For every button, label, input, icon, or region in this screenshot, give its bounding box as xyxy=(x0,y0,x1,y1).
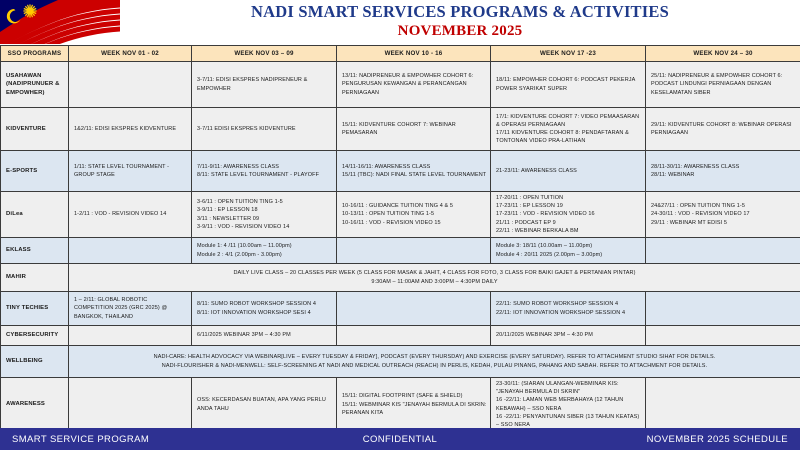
schedule-entry: DAILY LIVE CLASS – 20 CLASSES PER WEEK (… xyxy=(72,269,797,277)
program-name-cell[interactable]: AWARENESS xyxy=(1,378,69,432)
schedule-cell[interactable] xyxy=(337,326,491,346)
schedule-cell[interactable]: 25/11: NADIPRENEUR & EMPOWHER COHORT 6: … xyxy=(646,62,800,108)
schedule-cell[interactable]: 23-30/11: (SIARAN ULANGAN-WEBMINAR KIS: … xyxy=(491,378,646,432)
schedule-entry: 3-7/11: EDISI EKSPRES NADIPRENEUR & EMPO… xyxy=(197,76,333,92)
schedule-entry: 1/11: STATE LEVEL TOURNAMENT - GROUP STA… xyxy=(74,163,188,179)
table-header-row: SSO PROGRAMS WEEK NOV 01 - 02 WEEK NOV 0… xyxy=(1,46,800,62)
schedule-cell-merged[interactable]: NADI-CARE: HEALTH ADVOCACY VIA WEBINAR[L… xyxy=(69,346,800,378)
program-name-cell[interactable]: KIDVENTURE xyxy=(1,108,69,151)
table-row: MAHIRDAILY LIVE CLASS – 20 CLASSES PER W… xyxy=(1,264,800,292)
schedule-entry: 24-30/11 : VOD - REVISION VIDEO 17 xyxy=(651,210,797,218)
schedule-entry: 6/11/2025 WEBINAR 3PM – 4:30 PM xyxy=(197,331,333,339)
table-body: USAHAWAN (NADIPRUNUER & EMPOWHER)3-7/11:… xyxy=(1,62,800,450)
schedule-cell[interactable]: 8/11: SUMO ROBOT WORKSHOP SESSION 48/11:… xyxy=(192,292,337,326)
schedule-entry: Module 4 : 20/11 2025 (2.00pm – 3.00pm) xyxy=(496,251,642,259)
program-name-cell[interactable]: E-SPORTS xyxy=(1,151,69,192)
schedule-entry: 28/11: WEBINAR xyxy=(651,171,797,179)
schedule-entry: 3-7/11 EDISI EKSPRES KIDVENTURE xyxy=(197,125,333,133)
schedule-entry: 23-30/11: (SIARAN ULANGAN-WEBMINAR KIS: … xyxy=(496,380,642,396)
schedule-entry: Module 2 : 4/1 (2.00pm - 3.00pm) xyxy=(197,251,333,259)
schedule-entry: 25/11: NADIPRENEUR & EMPOWHER COHORT 6: … xyxy=(651,72,797,97)
schedule-cell[interactable]: 20/11/2025 WEBINAR 3PM – 4:30 PM xyxy=(491,326,646,346)
schedule-cell[interactable]: 10-16/11 : GUIDANCE TUITION TING 4 & 510… xyxy=(337,192,491,238)
schedule-cell[interactable]: 17/1: KIDVENTURE COHORT 7: VIDEO PEMAASA… xyxy=(491,108,646,151)
schedule-cell[interactable]: 29/11: KIDVENTURE COHORT 8: WEBINAR OPER… xyxy=(646,108,800,151)
schedule-cell[interactable] xyxy=(69,62,192,108)
page-header: NADI SMART SERVICES PROGRAMS & ACTIVITIE… xyxy=(0,0,800,45)
table-row: EKLASSModule 1: 4 /11 (10.00am – 11.00pm… xyxy=(1,238,800,264)
schedule-entry: Module 1: 4 /11 (10.00am – 11.00pm) xyxy=(197,242,333,250)
schedule-cell-merged[interactable]: DAILY LIVE CLASS – 20 CLASSES PER WEEK (… xyxy=(69,264,800,292)
column-header-week-1: WEEK NOV 01 - 02 xyxy=(69,46,192,62)
schedule-entry: 17-20/11 : OPEN TUITION xyxy=(496,194,642,202)
schedule-cell[interactable]: 1&2/11: EDISI EKSPRES KIDVENTURE xyxy=(69,108,192,151)
footer-center-label: CONFIDENTIAL xyxy=(270,434,530,445)
schedule-entry: 22/11 : WEBINAR BERKALA BM xyxy=(496,227,642,235)
program-name-cell[interactable]: WELLBEING xyxy=(1,346,69,378)
schedule-entry: 3-9/11 : VOD - REVISION VIDEO 14 xyxy=(197,223,333,231)
schedule-entry: NADI-FLOURISHER & NADI-MENWELL: SELF-SCR… xyxy=(72,362,797,370)
schedule-entry: 28/11-30/11: AWARENESS CLASS xyxy=(651,163,797,171)
table-row: DiLea1-2/11 : VOD - REVISION VIDEO 143-6… xyxy=(1,192,800,238)
schedule-entry: 24&27/11 : OPEN TUITION TING 1-5 xyxy=(651,202,797,210)
schedule-cell[interactable]: Module 1: 4 /11 (10.00am – 11.00pm)Modul… xyxy=(192,238,337,264)
schedule-entry: 15/11: WEBMINAR KIS "JENAYAH BERMULA DI … xyxy=(342,401,487,417)
page-title-block: NADI SMART SERVICES PROGRAMS & ACTIVITIE… xyxy=(120,2,800,41)
schedule-entry: 22/11: SUMO ROBOT WORKSHOP SESSION 4 xyxy=(496,300,642,308)
schedule-cell[interactable]: 1 – 2/11: GLOBAL ROBOTIC COMPETITION 202… xyxy=(69,292,192,326)
schedule-cell[interactable]: 6/11/2025 WEBINAR 3PM – 4:30 PM xyxy=(192,326,337,346)
column-header-week-5: WEEK NOV 24 – 30 xyxy=(646,46,800,62)
schedule-entry: 3/11 : NEWSLETTER 09 xyxy=(197,215,333,223)
schedule-entry: 17-23/11 : EP LESSON 19 xyxy=(496,202,642,210)
schedule-entry: 15/11: DIGITAL FOOTPRINT (SAFE & SHIELD) xyxy=(342,392,487,400)
schedule-cell[interactable] xyxy=(337,238,491,264)
schedule-cell[interactable]: 3-6/11 : OPEN TUITION TING 1-53-9/11 : E… xyxy=(192,192,337,238)
schedule-entry: 21/11 : PODCAST EP 9 xyxy=(496,219,642,227)
schedule-entry: 17/1: KIDVENTURE COHORT 7: VIDEO PEMAASA… xyxy=(496,113,642,129)
schedule-entry: 17-23/11 : VOD - REVISION VIDEO 16 xyxy=(496,210,642,218)
schedule-cell[interactable]: 17-20/11 : OPEN TUITION17-23/11 : EP LES… xyxy=(491,192,646,238)
schedule-cell[interactable] xyxy=(337,292,491,326)
table-row: KIDVENTURE1&2/11: EDISI EKSPRES KIDVENTU… xyxy=(1,108,800,151)
schedule-entry: 29/11: KIDVENTURE COHORT 8: WEBINAR OPER… xyxy=(651,121,797,137)
schedule-entry: 16 -22/11: PENYANTUNAN SIBER (13 TAHUN K… xyxy=(496,413,642,429)
schedule-entry: 20/11/2025 WEBINAR 3PM – 4:30 PM xyxy=(496,331,642,339)
schedule-entry: 8/11: SUMO ROBOT WORKSHOP SESSION 4 xyxy=(197,300,333,308)
schedule-cell[interactable]: 18/11: EMPOWHER COHORT 6: PODCAST PEKERJ… xyxy=(491,62,646,108)
table-row: CYBERSECURITY6/11/2025 WEBINAR 3PM – 4:3… xyxy=(1,326,800,346)
schedule-cell[interactable]: 13/11: NADIPRENEUR & EMPOWHER COHORT 6: … xyxy=(337,62,491,108)
table-row: TINY TECHIES1 – 2/11: GLOBAL ROBOTIC COM… xyxy=(1,292,800,326)
table-row: WELLBEINGNADI-CARE: HEALTH ADVOCACY VIA … xyxy=(1,346,800,378)
schedule-entry: OSS: KECERDASAN BUATAN, APA YANG PERLU A… xyxy=(197,396,333,412)
schedule-cell[interactable] xyxy=(646,378,800,432)
schedule-entry: 10-13/11 : OPEN TUITION TING 1-5 xyxy=(342,210,487,218)
program-name-cell[interactable]: TINY TECHIES xyxy=(1,292,69,326)
malaysia-flag-icon xyxy=(0,0,120,44)
schedule-cell[interactable]: 28/11-30/11: AWARENESS CLASS28/11: WEBIN… xyxy=(646,151,800,192)
schedule-entry: 7/11-9/11: AWARENESS CLASS xyxy=(197,163,333,171)
footer-left-label: SMART SERVICE PROGRAM xyxy=(0,434,270,445)
schedule-entry: 21-23/11: AWARENESS CLASS xyxy=(496,167,642,175)
schedule-cell[interactable]: 3-7/11 EDISI EKSPRES KIDVENTURE xyxy=(192,108,337,151)
column-header-week-2: WEEK NOV 03 – 09 xyxy=(192,46,337,62)
schedule-entry: 1-2/11 : VOD - REVISION VIDEO 14 xyxy=(74,210,188,218)
schedule-cell[interactable]: 7/11-9/11: AWARENESS CLASS8/11: STATE LE… xyxy=(192,151,337,192)
schedule-entry: 14/11-16/11: AWARENESS CLASS xyxy=(342,163,487,171)
footer-right-label: NOVEMBER 2025 SCHEDULE xyxy=(530,434,800,445)
schedule-entry: 22/11: IOT INNOVATION WORKSHOP SESSION 4 xyxy=(496,309,642,317)
schedule-entry: 15/11: KIDVENTURE COHORT 7: WEBINAR PEMA… xyxy=(342,121,487,137)
schedule-entry: 1&2/11: EDISI EKSPRES KIDVENTURE xyxy=(74,125,188,133)
schedule-cell[interactable]: 22/11: SUMO ROBOT WORKSHOP SESSION 422/1… xyxy=(491,292,646,326)
column-header-sso-programs: SSO PROGRAMS xyxy=(1,46,69,62)
program-name-cell[interactable]: CYBERSECURITY xyxy=(1,326,69,346)
schedule-entry: 8/11: IOT INNOVATION WORKSHOP SESI 4 xyxy=(197,309,333,317)
schedule-cell[interactable]: 3-7/11: EDISI EKSPRES NADIPRENEUR & EMPO… xyxy=(192,62,337,108)
column-header-week-3: WEEK NOV 10 - 16 xyxy=(337,46,491,62)
schedule-cell[interactable] xyxy=(69,238,192,264)
schedule-entry: 3-6/11 : OPEN TUITION TING 1-5 xyxy=(197,198,333,206)
program-name-cell[interactable]: EKLASS xyxy=(1,238,69,264)
schedule-entry: 10-16/11 : GUIDANCE TUITION TING 4 & 5 xyxy=(342,202,487,210)
schedule-cell[interactable]: 14/11-16/11: AWARENESS CLASS15/11 (TBC):… xyxy=(337,151,491,192)
program-name-cell[interactable]: USAHAWAN (NADIPRUNUER & EMPOWHER) xyxy=(1,62,69,108)
schedule-entry: NADI-CARE: HEALTH ADVOCACY VIA WEBINAR[L… xyxy=(72,353,797,361)
schedule-cell[interactable]: 15/11: DIGITAL FOOTPRINT (SAFE & SHIELD)… xyxy=(337,378,491,432)
schedule-cell[interactable]: Module 3: 18/11 (10.00am – 11.00pm)Modul… xyxy=(491,238,646,264)
program-name-cell[interactable]: MAHIR xyxy=(1,264,69,292)
schedule-entry: 13/11: NADIPRENEUR & EMPOWHER COHORT 6: … xyxy=(342,72,487,97)
schedule-cell[interactable]: 1-2/11 : VOD - REVISION VIDEO 14 xyxy=(69,192,192,238)
schedule-cell[interactable] xyxy=(69,378,192,432)
schedule-cell[interactable]: 24&27/11 : OPEN TUITION TING 1-524-30/11… xyxy=(646,192,800,238)
schedule-cell[interactable] xyxy=(69,326,192,346)
schedule-cell[interactable]: 1/11: STATE LEVEL TOURNAMENT - GROUP STA… xyxy=(69,151,192,192)
schedule-entry: 16 -22/11: LAMAN WEB MERBAHAYA (12 TAHUN… xyxy=(496,396,642,412)
schedule-page: NADI SMART SERVICES PROGRAMS & ACTIVITIE… xyxy=(0,0,800,450)
schedule-cell[interactable]: 21-23/11: AWARENESS CLASS xyxy=(491,151,646,192)
table-row: AWARENESSOSS: KECERDASAN BUATAN, APA YAN… xyxy=(1,378,800,432)
schedule-cell[interactable]: 15/11: KIDVENTURE COHORT 7: WEBINAR PEMA… xyxy=(337,108,491,151)
page-title: NADI SMART SERVICES PROGRAMS & ACTIVITIE… xyxy=(120,2,800,22)
schedule-cell[interactable] xyxy=(646,326,800,346)
schedule-entry: 10-16/11 : VOD - REVISION VIDEO 15 xyxy=(342,219,487,227)
schedule-cell[interactable]: OSS: KECERDASAN BUATAN, APA YANG PERLU A… xyxy=(192,378,337,432)
column-header-week-4: WEEK NOV 17 -23 xyxy=(491,46,646,62)
schedule-entry: Module 3: 18/11 (10.00am – 11.00pm) xyxy=(496,242,642,250)
table-row: USAHAWAN (NADIPRUNUER & EMPOWHER)3-7/11:… xyxy=(1,62,800,108)
schedule-entry: 9:30AM – 11:00AM AND 3:00PM – 4:30PM DAI… xyxy=(72,278,797,286)
schedule-entry: 29/11 : WEBINAR MT EDISI 5 xyxy=(651,219,797,227)
schedule-entry: 8/11: STATE LEVEL TOURNAMENT - PLAYOFF xyxy=(197,171,333,179)
schedule-table: SSO PROGRAMS WEEK NOV 01 - 02 WEEK NOV 0… xyxy=(0,45,800,450)
schedule-entry: 3-9/11 : EP LESSON 18 xyxy=(197,206,333,214)
schedule-cell[interactable] xyxy=(646,238,800,264)
program-name-cell[interactable]: DiLea xyxy=(1,192,69,238)
schedule-entry: 15/11 (TBC): NADI FINAL STATE LEVEL TOUR… xyxy=(342,171,487,179)
schedule-entry: 18/11: EMPOWHER COHORT 6: PODCAST PEKERJ… xyxy=(496,76,642,92)
schedule-cell[interactable] xyxy=(646,292,800,326)
schedule-entry: 1 – 2/11: GLOBAL ROBOTIC COMPETITION 202… xyxy=(74,296,188,321)
page-footer: SMART SERVICE PROGRAM CONFIDENTIAL NOVEM… xyxy=(0,428,800,450)
table-row: E-SPORTS1/11: STATE LEVEL TOURNAMENT - G… xyxy=(1,151,800,192)
schedule-entry: 17/11 KIDVENTURE COHORT 8: PENDAFTARAN &… xyxy=(496,129,642,145)
page-subtitle: NOVEMBER 2025 xyxy=(120,22,800,41)
